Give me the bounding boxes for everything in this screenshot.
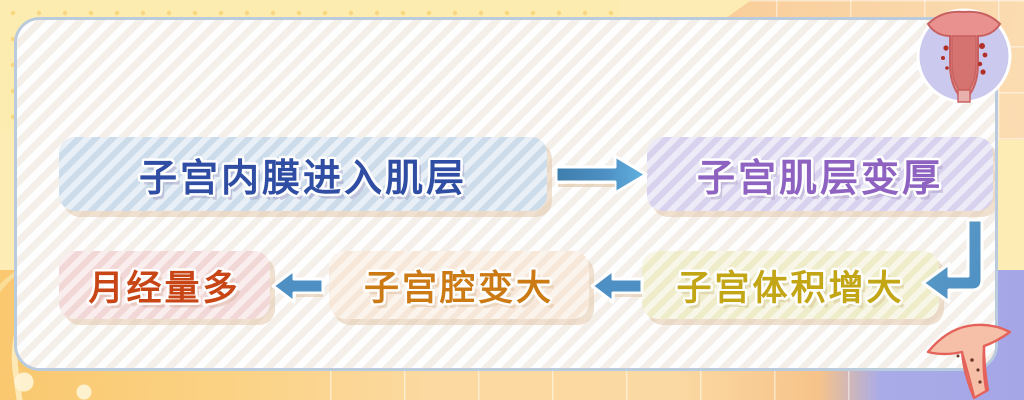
arrow-elbow-icon	[913, 216, 998, 312]
node-heavy-menstrual-flow[interactable]: 月经量多	[59, 251, 270, 319]
node-label: 子宫体积增大	[676, 260, 904, 311]
node-label: 月经量多	[88, 260, 240, 311]
node-label: 子宫腔变大	[364, 260, 554, 311]
node-label: 子宫内膜进入肌层	[139, 147, 467, 202]
arrow-left-icon	[589, 268, 645, 304]
arrow-left-icon	[270, 268, 326, 304]
node-uterine-volume-enlarged[interactable]: 子宫体积增大	[642, 251, 939, 319]
uterus-cross-section-icon	[912, 2, 1016, 106]
node-endometrium-into-myometrium[interactable]: 子宫内膜进入肌层	[59, 137, 547, 211]
uterus-outline-icon	[922, 308, 1018, 400]
arrow-right-icon	[553, 154, 649, 196]
node-label: 子宫肌层变厚	[697, 147, 943, 202]
node-uterine-cavity-enlarged[interactable]: 子宫腔变大	[329, 251, 589, 319]
diagram-canvas: 子宫内膜进入肌层 子宫肌层变厚	[0, 0, 1024, 400]
diagram-card: 子宫内膜进入肌层 子宫肌层变厚	[14, 17, 998, 371]
node-myometrium-thickened[interactable]: 子宫肌层变厚	[647, 137, 993, 211]
